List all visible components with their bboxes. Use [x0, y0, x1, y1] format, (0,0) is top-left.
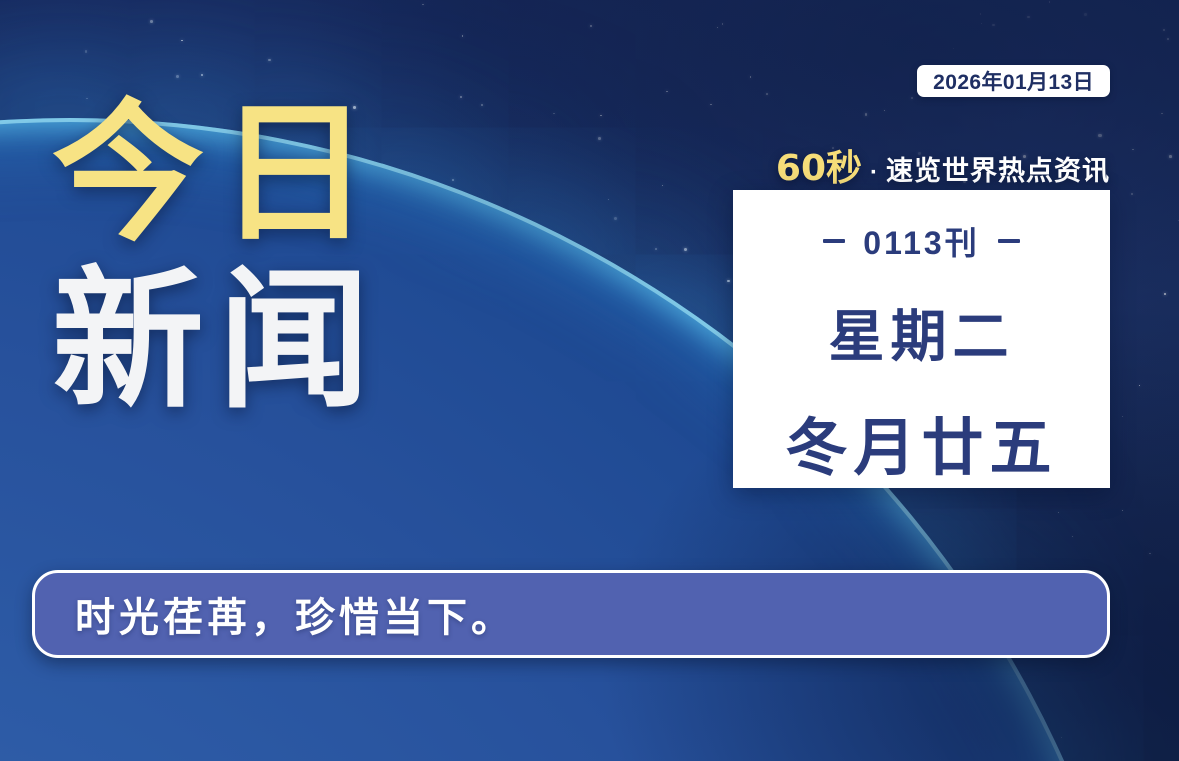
page-title: 今日 新闻: [52, 96, 672, 418]
quote-text: 时光荏苒，珍惜当下。: [75, 585, 515, 643]
poster-canvas: 今日 新闻 2026年01月13日 60秒 · 速览世界热点资讯 0113刊 星…: [0, 0, 1179, 761]
headline-line-1: 今日: [52, 96, 672, 251]
lunar-date-label: 冬月廿五: [785, 397, 1057, 487]
info-card: 0113刊 星期二 冬月廿五: [733, 190, 1110, 488]
tagline-seconds: 60秒: [776, 139, 862, 191]
weekday-label: 星期二: [829, 292, 1015, 373]
headline-line-2: 新闻: [52, 263, 672, 418]
dash-left-icon: [823, 239, 845, 243]
issue-number: 0113刊: [863, 218, 979, 264]
tagline: 60秒 · 速览世界热点资讯: [776, 139, 1110, 191]
date-badge: 2026年01月13日: [917, 65, 1110, 97]
tagline-separator-dot: ·: [870, 159, 878, 187]
quote-banner: 时光荏苒，珍惜当下。: [32, 570, 1110, 658]
issue-number-row: 0113刊: [823, 218, 1019, 264]
dash-right-icon: [998, 239, 1020, 243]
tagline-slogan: 速览世界热点资讯: [886, 149, 1110, 188]
foreground-content: 今日 新闻 2026年01月13日 60秒 · 速览世界热点资讯 0113刊 星…: [0, 0, 1179, 761]
